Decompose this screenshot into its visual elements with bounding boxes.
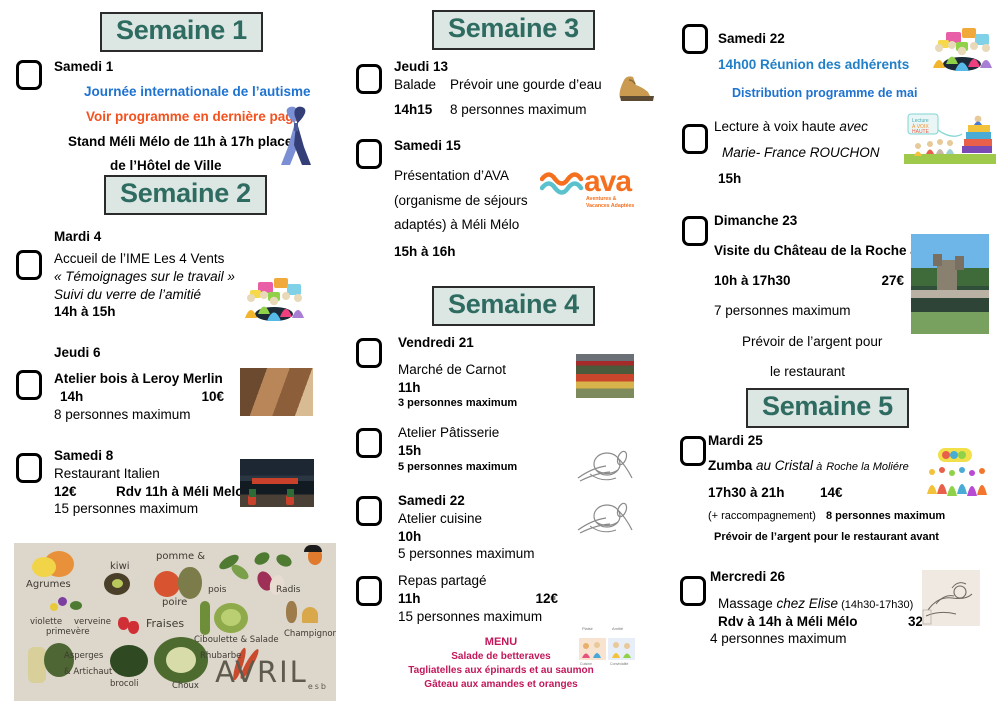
entry-detail-2: adaptés) à Méli Mélo	[394, 216, 584, 234]
produce-label: primevère	[46, 627, 90, 637]
produce-label: violette	[30, 617, 62, 627]
checkbox-atelier-patisserie[interactable]	[356, 428, 382, 458]
chateau-photo	[911, 234, 989, 334]
entry-lecture-voix-haute[interactable]: Lecture à voix haute avec Marie- France …	[666, 110, 1000, 186]
entry-max: 5 personnes maximum	[398, 460, 578, 475]
produce-label: Radis	[276, 585, 300, 595]
entry-time: 11h	[398, 590, 421, 608]
entry-title: Marché de Carnot	[398, 361, 578, 379]
entry-highlight-blue-1: 14h00 Réunion des adhérents	[718, 56, 938, 74]
entry-meeting-point: Rdv 11h à Méli Melo	[116, 483, 244, 501]
entry-price: 12€	[54, 483, 116, 501]
checkbox-vendredi-21[interactable]	[356, 338, 382, 368]
week-header-1: Semaine 1	[100, 12, 263, 52]
entry-note: (+ raccompagnement)	[708, 509, 826, 524]
menu-heading: MENU	[376, 636, 626, 648]
zumba-dancers-illustration-icon	[924, 444, 994, 500]
ava-logo: ava Aventures & Vacances Adaptées	[540, 167, 660, 210]
meeting-people-illustration-icon	[240, 270, 308, 322]
entry-time: 14h15	[394, 101, 450, 119]
ava-tagline-2: Vacances Adaptées	[586, 203, 660, 210]
entry-price: 12€	[535, 590, 558, 608]
produce-label: Ciboulette & Salade	[194, 635, 279, 645]
market-stall-photo	[576, 354, 634, 398]
entry-title: Atelier cuisine	[398, 510, 578, 528]
checkbox-samedi-22-cuisine[interactable]	[356, 496, 382, 526]
checkbox-dimanche-23[interactable]	[682, 216, 708, 246]
checkbox-samedi-15[interactable]	[356, 139, 382, 169]
entry-price: 10€	[201, 388, 224, 406]
chef-hat-whisk-drawing-icon	[574, 500, 640, 540]
chef-hat-whisk-drawing-icon	[574, 448, 640, 488]
entry-mardi-25[interactable]: Mardi 25 Zumba au Cristal àRoche la Moli…	[666, 432, 1000, 542]
entry-note-1: Prévoir de l’argent pour	[742, 333, 944, 351]
restaurant-facade-photo	[240, 459, 314, 507]
week-header-2-label: Semaine 2	[104, 175, 267, 215]
week-header-5: Semaine 5	[746, 388, 909, 428]
entry-price: 27€	[881, 272, 904, 290]
week-header-1-label: Semaine 1	[100, 12, 263, 52]
menu-item: Tagliatelles aux épinards et au saumon	[376, 665, 626, 676]
entry-mercredi-26[interactable]: Mercredi 26 Massage chez Elise (14h30-17…	[666, 562, 1000, 658]
checkbox-jeudi-6[interactable]	[16, 370, 42, 400]
produce-label: Asperges	[64, 651, 103, 661]
produce-label: verveine	[74, 617, 111, 627]
entry-time: 15h	[398, 442, 578, 460]
svg-text:HAUTE: HAUTE	[912, 129, 930, 135]
entry-time: 10h à 17h30	[714, 272, 791, 290]
checkbox-lecture-voix-haute[interactable]	[682, 124, 708, 154]
produce-label: pomme &	[156, 551, 205, 562]
entry-samedi-22-reunion[interactable]: Samedi 22 14h00 Réunion des adhérents Di…	[666, 20, 1000, 106]
produce-month-label: AVRILesb	[215, 655, 328, 691]
entry-day-label: Samedi 15	[394, 137, 584, 155]
entry-max: 5 personnes maximum	[398, 545, 578, 563]
entry-day-label: Vendredi 21	[398, 334, 578, 352]
entry-note: Prévoir une gourde d’eau	[450, 76, 602, 94]
entry-activity: Balade	[394, 76, 450, 94]
checkbox-samedi-1[interactable]	[16, 60, 42, 90]
week-header-5-label: Semaine 5	[746, 388, 909, 428]
entry-quote: « Témoignages sur le travail »	[54, 268, 254, 286]
entry-price: 14€	[820, 484, 843, 502]
column-right: Samedi 22 14h00 Réunion des adhérents Di…	[666, 0, 1000, 707]
entry-meeting-point: Rdv à 14h à Méli Mélo	[718, 613, 908, 631]
week-header-4-label: Semaine 4	[432, 286, 595, 326]
entry-jeudi-13[interactable]: Jeudi 13 Balade Prévoir une gourde d’eau…	[336, 58, 666, 128]
entry-dimanche-23[interactable]: Dimanche 23 Visite du Château de la Roch…	[666, 212, 1000, 372]
entry-jeudi-6[interactable]: Jeudi 6 Atelier bois à Leroy Merlin 14h …	[0, 344, 336, 432]
entry-max: 15 personnes maximum	[54, 500, 239, 518]
entry-repas-partage[interactable]: Repas partagé 11h 12€ 15 personnes maxim…	[336, 572, 666, 697]
massage-line-drawing-icon	[922, 570, 980, 626]
week-header-2: Semaine 2	[104, 175, 267, 215]
entry-day-label: Jeudi 13	[394, 58, 634, 76]
entry-mardi-4[interactable]: Mardi 4 Accueil de l’IME Les 4 Vents « T…	[0, 228, 336, 324]
entry-title: Atelier bois à Leroy Merlin	[54, 370, 239, 388]
entry-highlight-blue: Journée internationale de l’autisme	[84, 83, 336, 101]
entry-footer-note: Prévoir de l’argent pour le restaurant a…	[714, 530, 968, 545]
entry-atelier-patisserie[interactable]: Atelier Pâtisserie 15h 5 personnes maxim…	[336, 424, 666, 496]
entry-samedi-8[interactable]: Samedi 8 Restaurant Italien 12€ Rdv 11h …	[0, 447, 336, 529]
produce-label: Fraises	[146, 617, 184, 630]
checkbox-repas-partage[interactable]	[356, 576, 382, 606]
entry-time: 11h	[398, 379, 578, 397]
entry-presenter: Marie- France ROUCHON	[722, 144, 934, 162]
entry-samedi-15[interactable]: Samedi 15 Présentation d’AVA (organisme …	[336, 137, 666, 267]
checkbox-mardi-4[interactable]	[16, 250, 42, 280]
checkbox-samedi-8[interactable]	[16, 453, 42, 483]
week-header-3: Semaine 3	[432, 10, 595, 50]
produce-label: pois	[208, 585, 226, 595]
column-left: Semaine 1 Samedi 1 Journée international…	[0, 0, 336, 707]
menu-block: MENU Salade de betteraves Tagliatelles a…	[376, 636, 626, 690]
entry-vendredi-21[interactable]: Vendredi 21 Marché de Carnot 11h 3 perso…	[336, 334, 666, 422]
entry-day-label: Samedi 22	[398, 492, 578, 510]
woodworking-photo	[240, 368, 313, 416]
checkbox-mardi-25[interactable]	[680, 436, 706, 466]
ava-waves-icon	[540, 169, 584, 195]
produce-label: Choux	[172, 681, 199, 691]
checkbox-jeudi-13[interactable]	[356, 64, 382, 94]
produce-label: brocoli	[110, 679, 139, 689]
produce-label: & Artichaut	[64, 667, 112, 677]
checkbox-mercredi-26[interactable]	[680, 576, 706, 606]
entry-day-label: Samedi 8	[54, 447, 239, 465]
entry-time: 17h30 à 21h	[708, 484, 820, 502]
produce-illustration-avril: Agrumes kiwi pomme & poire pois Radis vi…	[14, 543, 336, 701]
entry-title: Restaurant Italien	[54, 465, 239, 483]
week-header-3-label: Semaine 3	[432, 10, 595, 50]
entry-time: 15h à 16h	[394, 243, 584, 261]
entry-detail: Suivi du verre de l’amitié	[54, 286, 254, 304]
entry-day-label: Mardi 4	[54, 228, 101, 246]
entry-highlight-blue-2: Distribution programme de mai	[732, 85, 938, 102]
entry-time: 14h à 15h	[54, 303, 254, 321]
column-middle: Semaine 3 Jeudi 13 Balade Prévoir une go…	[336, 0, 666, 707]
entry-title: Atelier Pâtisserie	[398, 424, 578, 442]
entry-max: 8 personnes maximum	[450, 101, 587, 119]
checkbox-samedi-22-reunion[interactable]	[682, 24, 708, 54]
entry-time: 15h	[718, 170, 934, 188]
autism-awareness-ribbon-icon	[276, 105, 316, 167]
entry-max: 15 personnes maximum	[398, 608, 588, 626]
entry-title: Repas partagé	[398, 572, 588, 590]
entry-time: 14h	[60, 388, 83, 406]
entry-day-label: Samedi 1	[54, 58, 336, 76]
entry-max: 8 personnes maximum	[54, 406, 239, 424]
entry-max: 3 personnes maximum	[398, 396, 578, 411]
ava-logo-word: ava	[584, 167, 631, 197]
entry-note-2: le restaurant	[770, 363, 944, 381]
week-header-4: Semaine 4	[432, 286, 595, 326]
entry-day-label: Dimanche 23	[714, 212, 944, 230]
entry-max: 7 personnes maximum	[714, 302, 944, 320]
entry-samedi-1[interactable]: Samedi 1 Journée internationale de l’aut…	[0, 58, 336, 173]
entry-max: 4 personnes maximum	[710, 630, 960, 648]
hiking-boot-photo	[616, 72, 656, 102]
entry-day-label: Samedi 22	[718, 30, 938, 48]
read-aloud-books-illustration-icon: Lecture À VOIX HAUTE	[904, 110, 996, 164]
meeting-people-illustration-icon	[928, 20, 996, 72]
produce-label: kiwi	[110, 561, 130, 572]
entry-title: Visite du Château de la Roche à Feurs	[714, 242, 944, 260]
entry-title: Accueil de l’IME Les 4 Vents	[54, 250, 254, 268]
entry-max: 8 personnes maximum	[826, 509, 945, 524]
produce-label: poire	[162, 597, 187, 608]
produce-label: Agrumes	[26, 579, 71, 590]
entry-time: 10h	[398, 528, 578, 546]
entry-samedi-22-cuisine[interactable]: Samedi 22 Atelier cuisine 10h 5 personne…	[336, 492, 666, 572]
entry-day-label: Jeudi 6	[54, 344, 101, 362]
svg-text:Amitié: Amitié	[612, 626, 624, 631]
produce-label: Champignons	[284, 629, 336, 639]
menu-item: Salade de betteraves	[376, 651, 626, 662]
svg-text:Plaisir: Plaisir	[582, 626, 594, 631]
menu-item: Gâteau aux amandes et oranges	[376, 679, 626, 690]
entry-title: Lecture à voix haute avec	[714, 118, 934, 136]
